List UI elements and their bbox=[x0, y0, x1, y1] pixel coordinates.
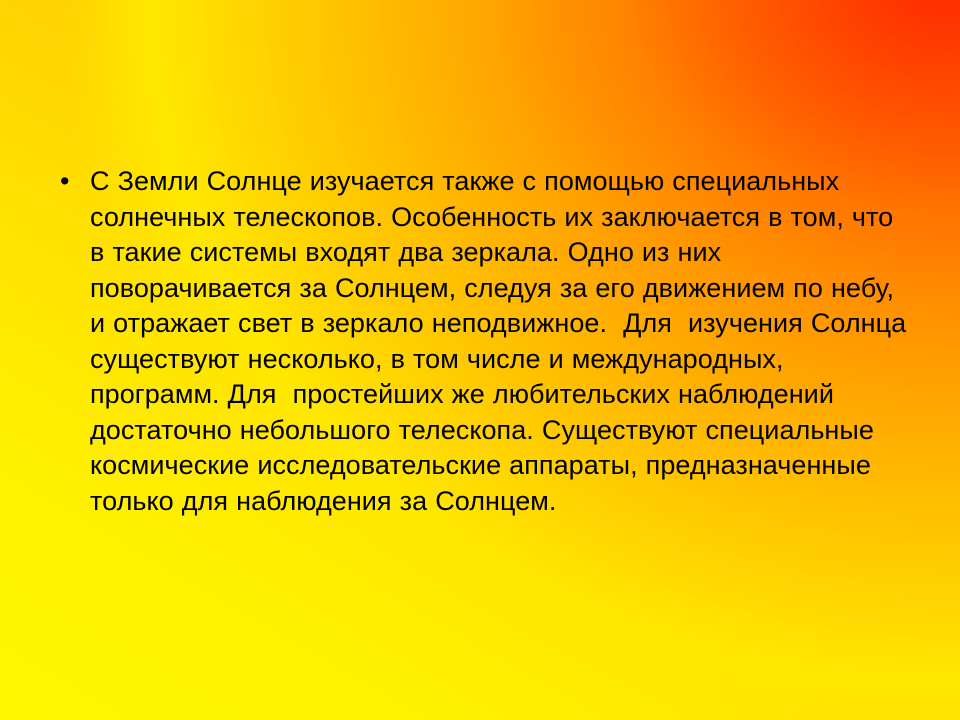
slide-body-paragraph: С Земли Солнце изучается также с помощью… bbox=[90, 164, 908, 519]
presentation-slide: • С Земли Солнце изучается также с помощ… bbox=[0, 0, 960, 720]
slide-body-content: • С Земли Солнце изучается также с помощ… bbox=[56, 164, 908, 519]
bullet-point-icon: • bbox=[56, 164, 90, 200]
bullet-list-item: • С Земли Солнце изучается также с помощ… bbox=[56, 164, 908, 519]
